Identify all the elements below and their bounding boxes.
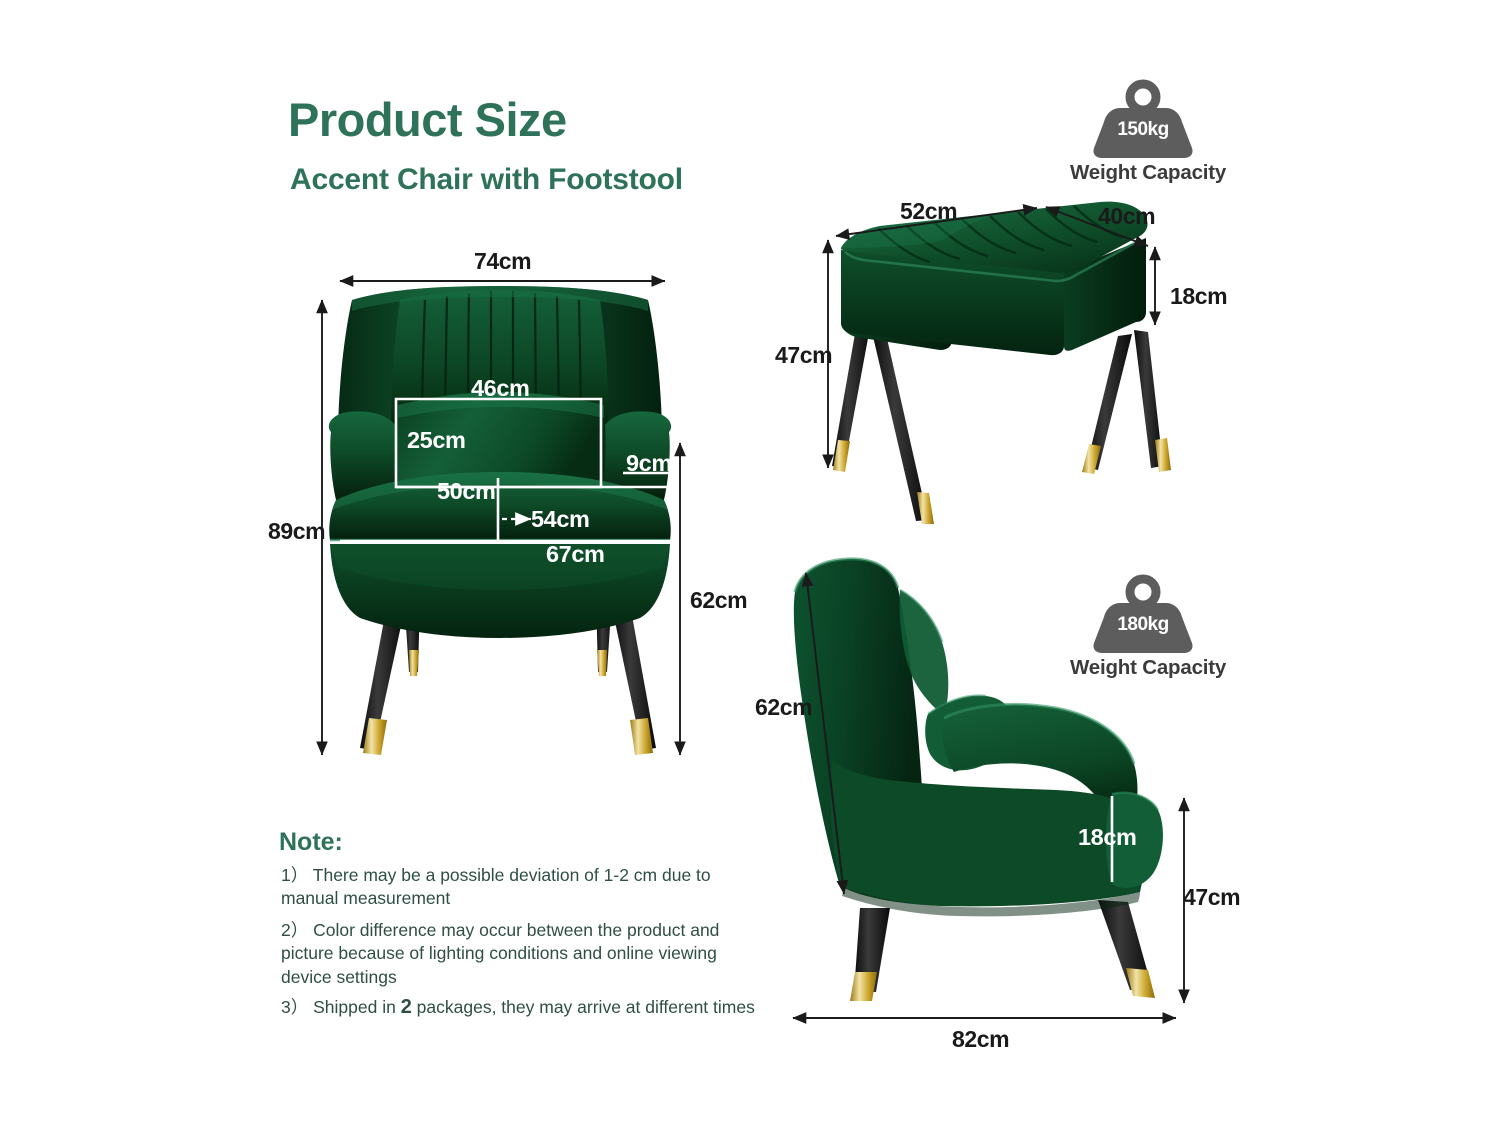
weight-icon: 180kg [1106,583,1180,647]
note-number: 1） [281,865,308,885]
chair-front-illustration [329,286,671,755]
weight-capacity-label: Weight Capacity [1070,161,1216,185]
note-text-pre: Shipped in [313,997,401,1017]
chair-front-dimension-lines [322,281,680,755]
weight-value: 180kg [1106,614,1180,636]
dimension-pillow-height: 25cm [407,427,466,454]
page-title: Product Size [288,92,567,147]
weight-capacity-badge-footstool: 150kg Weight Capacity [1070,88,1216,185]
note-heading: Note: [279,828,343,857]
footstool-illustration [832,202,1171,524]
dimension-stool-seat: 18cm [1170,283,1227,310]
dimension-side-seat-height: 47cm [1183,884,1240,911]
note-number: 2） [281,920,308,940]
dimension-chair-width: 74cm [474,248,531,275]
weight-value: 150kg [1106,119,1180,141]
note-item-3: 3） Shipped in 2 packages, they may arriv… [281,994,781,1021]
dimension-stool-depth: 40cm [1098,203,1155,230]
dimension-side-arm-height: 18cm [1078,824,1137,851]
note-text-post: packages, they may arrive at different t… [412,997,755,1017]
dimension-backrest-width: 50cm [437,478,496,505]
dimension-seat-width: 67cm [546,541,605,568]
note-item-1: 1） There may be a possible deviation of … [281,864,761,911]
note-item-2: 2） Color difference may occur between th… [281,919,761,989]
package-count: 2 [401,996,412,1018]
page-subtitle: Accent Chair with Footstool [290,163,683,197]
infographic-canvas: Product Size Accent Chair with Footstool [0,0,1500,1125]
dimension-stool-height: 47cm [775,342,832,369]
weight-capacity-badge-chair: 180kg Weight Capacity [1070,583,1216,680]
dimension-stool-width: 52cm [900,198,957,225]
note-number: 3） [281,997,308,1017]
dimension-side-depth: 82cm [952,1026,1009,1053]
dimension-pillow-width: 46cm [471,375,530,402]
weight-capacity-label: Weight Capacity [1070,656,1216,680]
dimension-arm-thickness: 9cm [626,450,672,477]
weight-icon: 150kg [1106,88,1180,152]
dimension-chair-seat-height: 62cm [690,587,747,614]
footstool-dimension-lines [828,207,1155,468]
dimension-chair-height: 89cm [268,518,325,545]
dimension-seat-depth: 54cm [531,506,590,533]
note-text: Color difference may occur between the p… [281,920,719,987]
note-text: There may be a possible deviation of 1-2… [281,865,711,908]
dimension-side-back-height: 62cm [755,694,812,721]
